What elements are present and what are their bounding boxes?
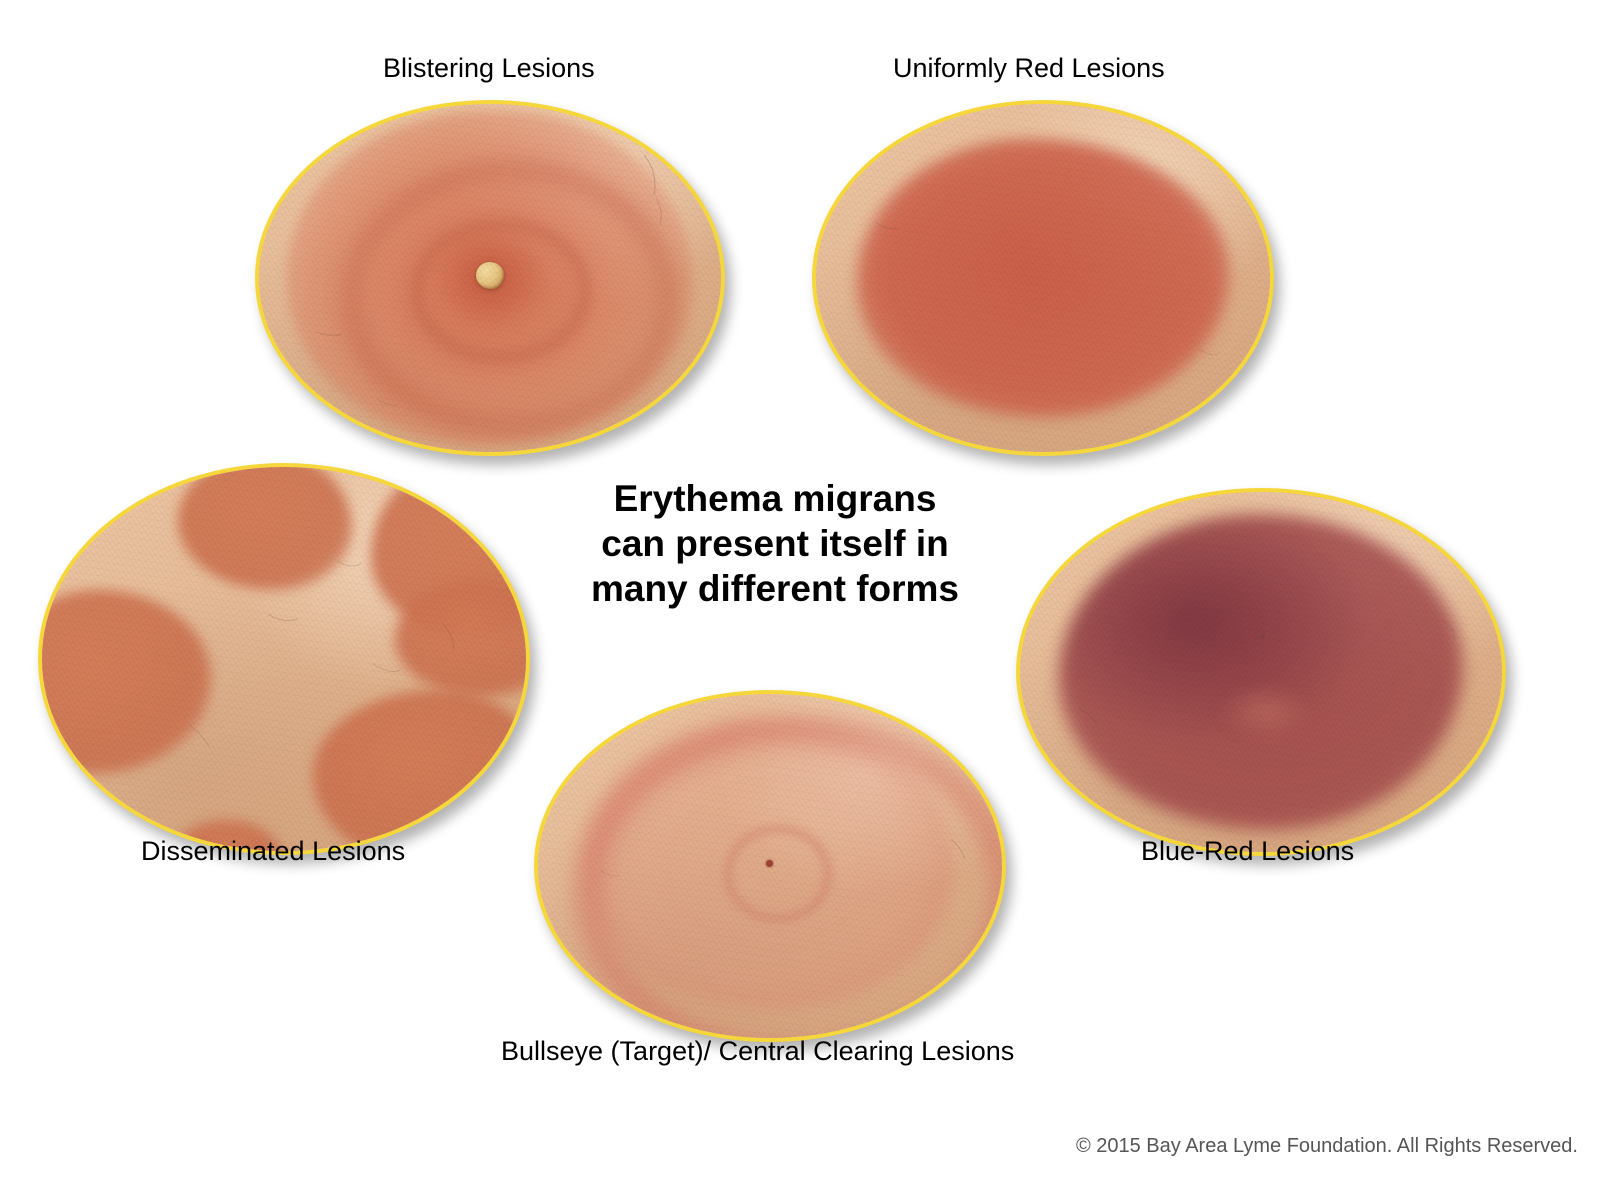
rash-center-highlight — [1222, 686, 1309, 736]
copyright-notice: © 2015 Bay Area Lyme Foundation. All Rig… — [1076, 1135, 1578, 1158]
tick-bite-dot — [766, 860, 772, 867]
lesion-image-disseminated — [38, 463, 530, 855]
label-disseminated-lesions: Disseminated Lesions — [141, 835, 405, 867]
lesion-image-bullseye — [534, 690, 1006, 1042]
label-bullseye-lesions: Bullseye (Target)/ Central Clearing Lesi… — [501, 1035, 1014, 1067]
blister-center — [476, 262, 504, 288]
lesion-image-blue-red — [1016, 488, 1506, 856]
center-title-line-3: many different forms — [520, 566, 1030, 611]
infographic-canvas: Blistering Lesions Uniformly Red Lesions — [0, 0, 1606, 1200]
lesion-image-uniformly-red — [812, 100, 1274, 456]
label-uniformly-red-lesions: Uniformly Red Lesions — [893, 52, 1165, 84]
tick-bite-dot — [1261, 634, 1265, 638]
center-title-line-1: Erythema migrans — [520, 476, 1030, 521]
rash-area — [1059, 514, 1464, 831]
rash-ring-inner — [411, 219, 590, 363]
label-blistering-lesions: Blistering Lesions — [383, 52, 595, 84]
center-title: Erythema migrans can present itself in m… — [520, 476, 1030, 611]
center-title-line-2: can present itself in — [520, 521, 1030, 566]
lesion-image-blistering — [255, 100, 725, 456]
label-blue-red-lesions: Blue-Red Lesions — [1141, 835, 1354, 867]
rash-inner-ring — [724, 825, 833, 924]
